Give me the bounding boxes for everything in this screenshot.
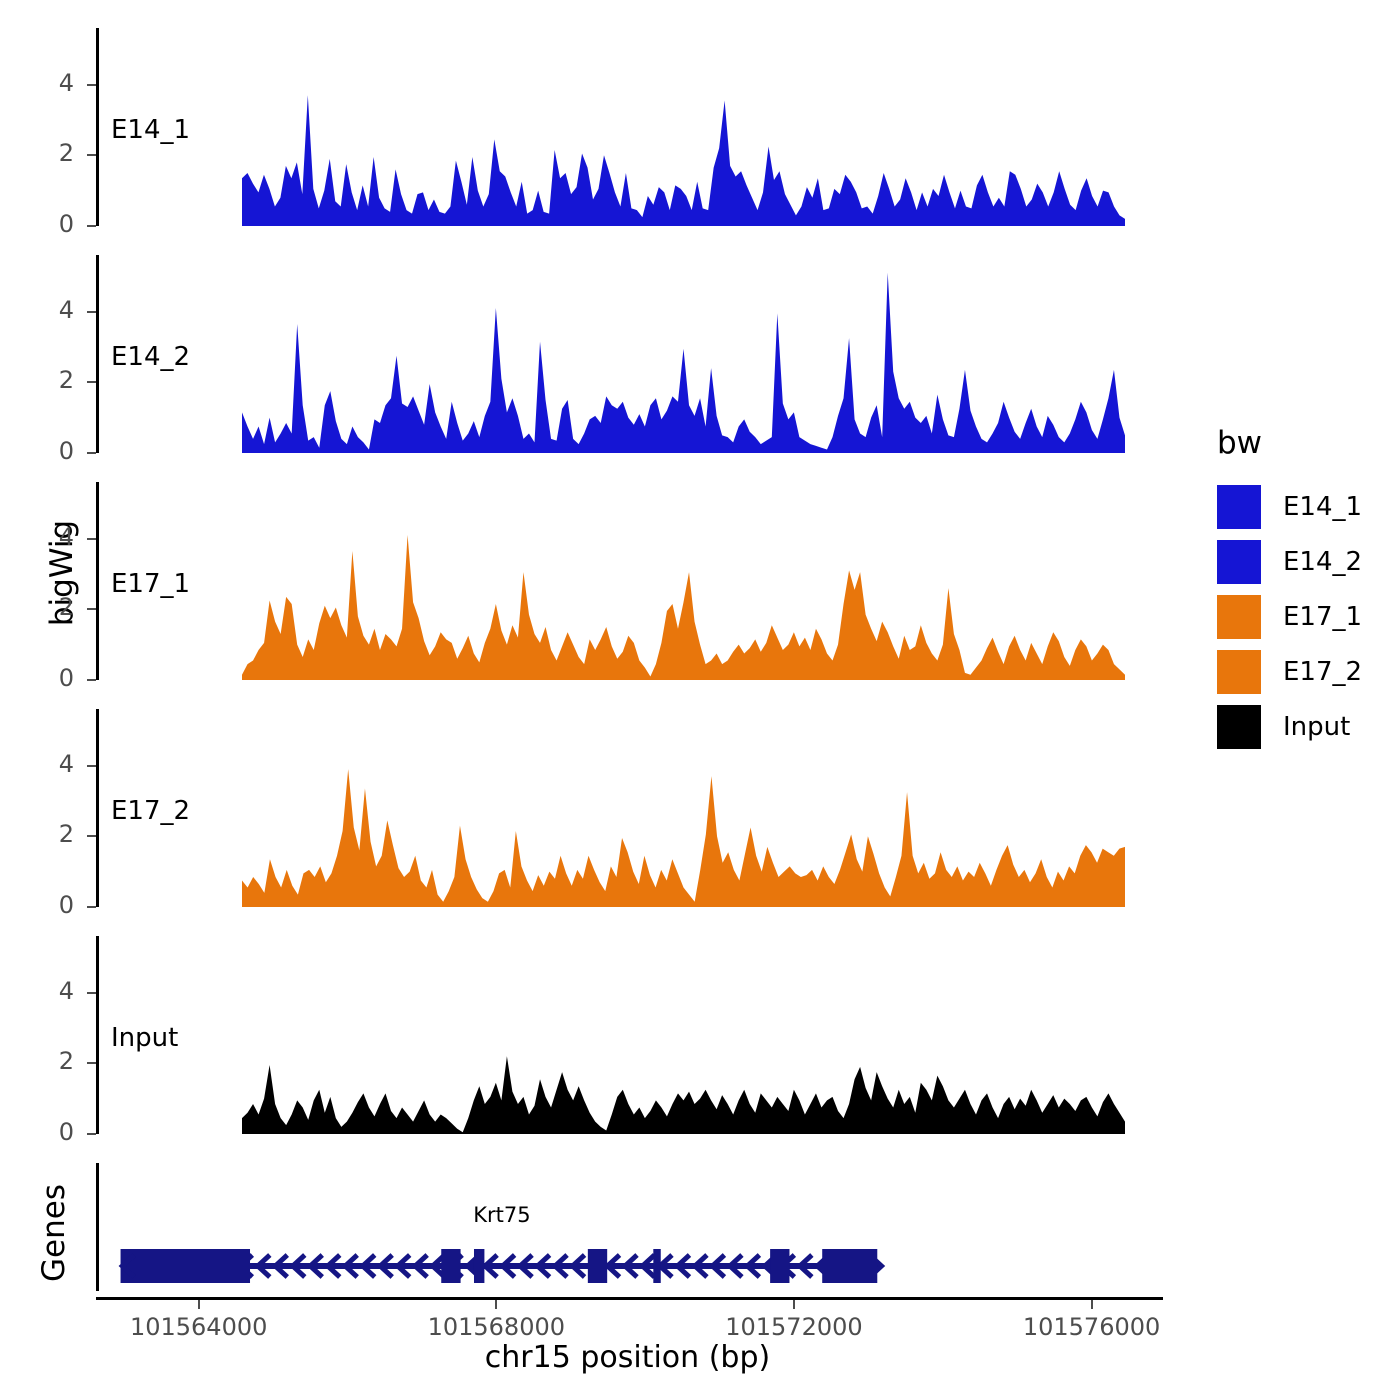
track-label-e17_1: E17_1 [111,569,190,599]
y-tick-label: 0 [16,437,74,465]
legend-swatch-e14_2 [1217,540,1261,584]
legend-item-input[interactable]: Input [1205,699,1362,754]
y-axis-line-e17_2 [96,709,99,907]
y-tick-mark [87,452,96,454]
gene-name-label: Krt75 [402,1203,602,1227]
track-label-input: Input [111,1023,178,1053]
y-tick-mark [87,84,96,86]
y-tick-mark [87,311,96,313]
legend: bw E14_1E14_2E17_1E17_2Input [1205,425,1362,754]
y-axis-line-e14_2 [96,255,99,453]
legend-swatch-e17_2 [1217,650,1261,694]
y-tick-mark [87,835,96,837]
y-tick-mark [87,225,96,227]
bigwig-axis-title: bigWig [44,493,80,653]
y-tick-label: 4 [16,296,74,324]
signal-track-e14_1 [242,28,1125,228]
legend-label: E14_1 [1283,492,1362,522]
gene-model-krt75[interactable] [0,1163,1400,1291]
y-tick-label: 0 [16,664,74,692]
signal-track-e17_2 [242,709,1125,909]
y-tick-label: 0 [16,210,74,238]
x-axis-title: chr15 position (bp) [95,1340,1160,1375]
x-tick-mark [793,1300,795,1309]
y-tick-label: 4 [16,750,74,778]
track-label-e14_1: E14_1 [111,115,190,145]
y-tick-mark [87,381,96,383]
legend-label: E17_2 [1283,657,1362,687]
legend-item-e14_2[interactable]: E14_2 [1205,534,1362,589]
legend-item-e14_1[interactable]: E14_1 [1205,479,1362,534]
y-tick-label: 2 [16,139,74,167]
y-tick-label: 2 [16,1047,74,1075]
y-tick-mark [87,608,96,610]
signal-track-e14_2 [242,255,1125,455]
signal-track-e17_1 [242,482,1125,682]
y-tick-mark [87,992,96,994]
legend-items: E14_1E14_2E17_1E17_2Input [1205,479,1362,754]
legend-title: bw [1217,425,1362,461]
y-tick-label: 0 [16,1118,74,1146]
x-axis-line [96,1297,1163,1300]
y-tick-mark [87,765,96,767]
x-tick-mark [495,1300,497,1309]
x-tick-label: 101576000 [982,1313,1202,1341]
y-tick-mark [87,538,96,540]
legend-item-e17_1[interactable]: E17_1 [1205,589,1362,644]
y-tick-label: 2 [16,366,74,394]
x-tick-mark [198,1300,200,1309]
legend-label: E14_2 [1283,547,1362,577]
y-tick-label: 4 [16,977,74,1005]
y-tick-label: 4 [16,69,74,97]
legend-swatch-e14_1 [1217,485,1261,529]
y-tick-mark [87,154,96,156]
y-tick-mark [87,679,96,681]
y-tick-label: 4 [16,523,74,551]
signal-track-input [242,936,1125,1136]
y-axis-line-e14_1 [96,28,99,226]
legend-swatch-input [1217,705,1261,749]
legend-label: E17_1 [1283,602,1362,632]
y-tick-mark [87,1133,96,1135]
legend-swatch-e17_1 [1217,595,1261,639]
y-tick-label: 2 [16,820,74,848]
y-axis-line-input [96,936,99,1134]
y-tick-label: 2 [16,593,74,621]
track-label-e14_2: E14_2 [111,342,190,372]
legend-label: Input [1283,712,1350,742]
y-axis-line-e17_1 [96,482,99,680]
y-tick-mark [87,1062,96,1064]
y-tick-label: 0 [16,891,74,919]
x-tick-mark [1091,1300,1093,1309]
track-label-e17_2: E17_2 [111,796,190,826]
legend-item-e17_2[interactable]: E17_2 [1205,644,1362,699]
y-tick-mark [87,906,96,908]
x-tick-label: 101572000 [684,1313,904,1341]
x-tick-label: 101568000 [386,1313,606,1341]
x-tick-label: 101564000 [89,1313,309,1341]
